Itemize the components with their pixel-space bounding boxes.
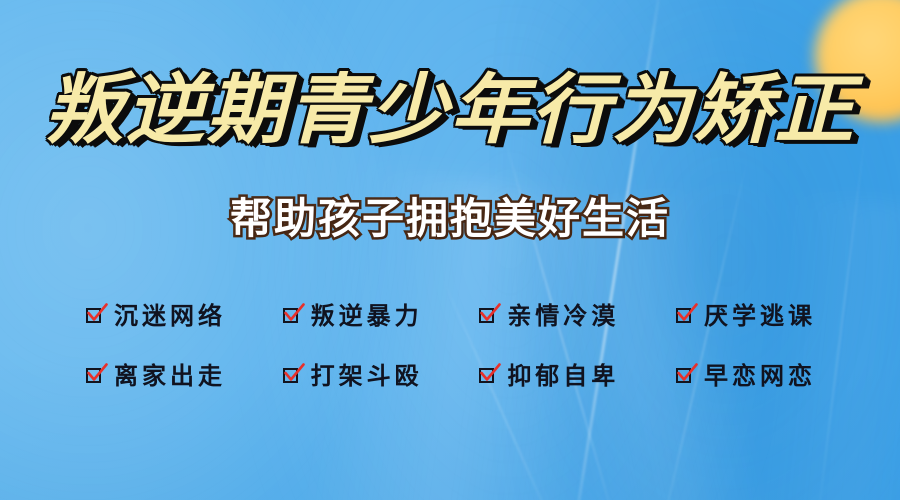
list-item[interactable]: 亲情冷漠 bbox=[479, 304, 619, 328]
checkbox-checked-icon[interactable] bbox=[479, 306, 499, 326]
list-item[interactable]: 抑郁自卑 bbox=[479, 364, 619, 388]
list-item[interactable]: 沉迷网络 bbox=[86, 304, 226, 328]
checklist-row: 沉迷网络 叛逆暴力 亲情冷漠 bbox=[86, 294, 816, 338]
list-item[interactable]: 叛逆暴力 bbox=[283, 304, 423, 328]
list-item[interactable]: 离家出走 bbox=[86, 364, 226, 388]
list-item-label: 抑郁自卑 bbox=[507, 364, 619, 388]
list-item-label: 沉迷网络 bbox=[114, 304, 226, 328]
headline-container: 叛逆期青少年行为矫正 bbox=[0, 72, 900, 148]
subtitle-container: 帮助孩子拥抱美好生活 bbox=[0, 198, 900, 240]
list-item[interactable]: 厌学逃课 bbox=[676, 304, 816, 328]
list-item-label: 叛逆暴力 bbox=[311, 304, 423, 328]
checklist-row: 离家出走 打架斗殴 抑郁自卑 bbox=[86, 354, 816, 398]
checklist: 沉迷网络 叛逆暴力 亲情冷漠 bbox=[86, 294, 816, 414]
list-item-label: 亲情冷漠 bbox=[507, 304, 619, 328]
checkbox-checked-icon[interactable] bbox=[86, 306, 106, 326]
list-item-label: 打架斗殴 bbox=[311, 364, 423, 388]
checkbox-checked-icon[interactable] bbox=[86, 366, 106, 386]
page-title: 叛逆期青少年行为矫正 bbox=[44, 72, 855, 148]
checkbox-checked-icon[interactable] bbox=[283, 306, 303, 326]
checkbox-checked-icon[interactable] bbox=[676, 366, 696, 386]
list-item-label: 早恋网恋 bbox=[704, 364, 816, 388]
list-item[interactable]: 早恋网恋 bbox=[676, 364, 816, 388]
checkbox-checked-icon[interactable] bbox=[676, 306, 696, 326]
checkbox-checked-icon[interactable] bbox=[479, 366, 499, 386]
list-item[interactable]: 打架斗殴 bbox=[283, 364, 423, 388]
list-item-label: 离家出走 bbox=[114, 364, 226, 388]
list-item-label: 厌学逃课 bbox=[704, 304, 816, 328]
page-subtitle: 帮助孩子拥抱美好生活 bbox=[230, 198, 670, 240]
promo-banner: 叛逆期青少年行为矫正 帮助孩子拥抱美好生活 沉迷网络 bbox=[0, 0, 900, 500]
checkbox-checked-icon[interactable] bbox=[283, 366, 303, 386]
